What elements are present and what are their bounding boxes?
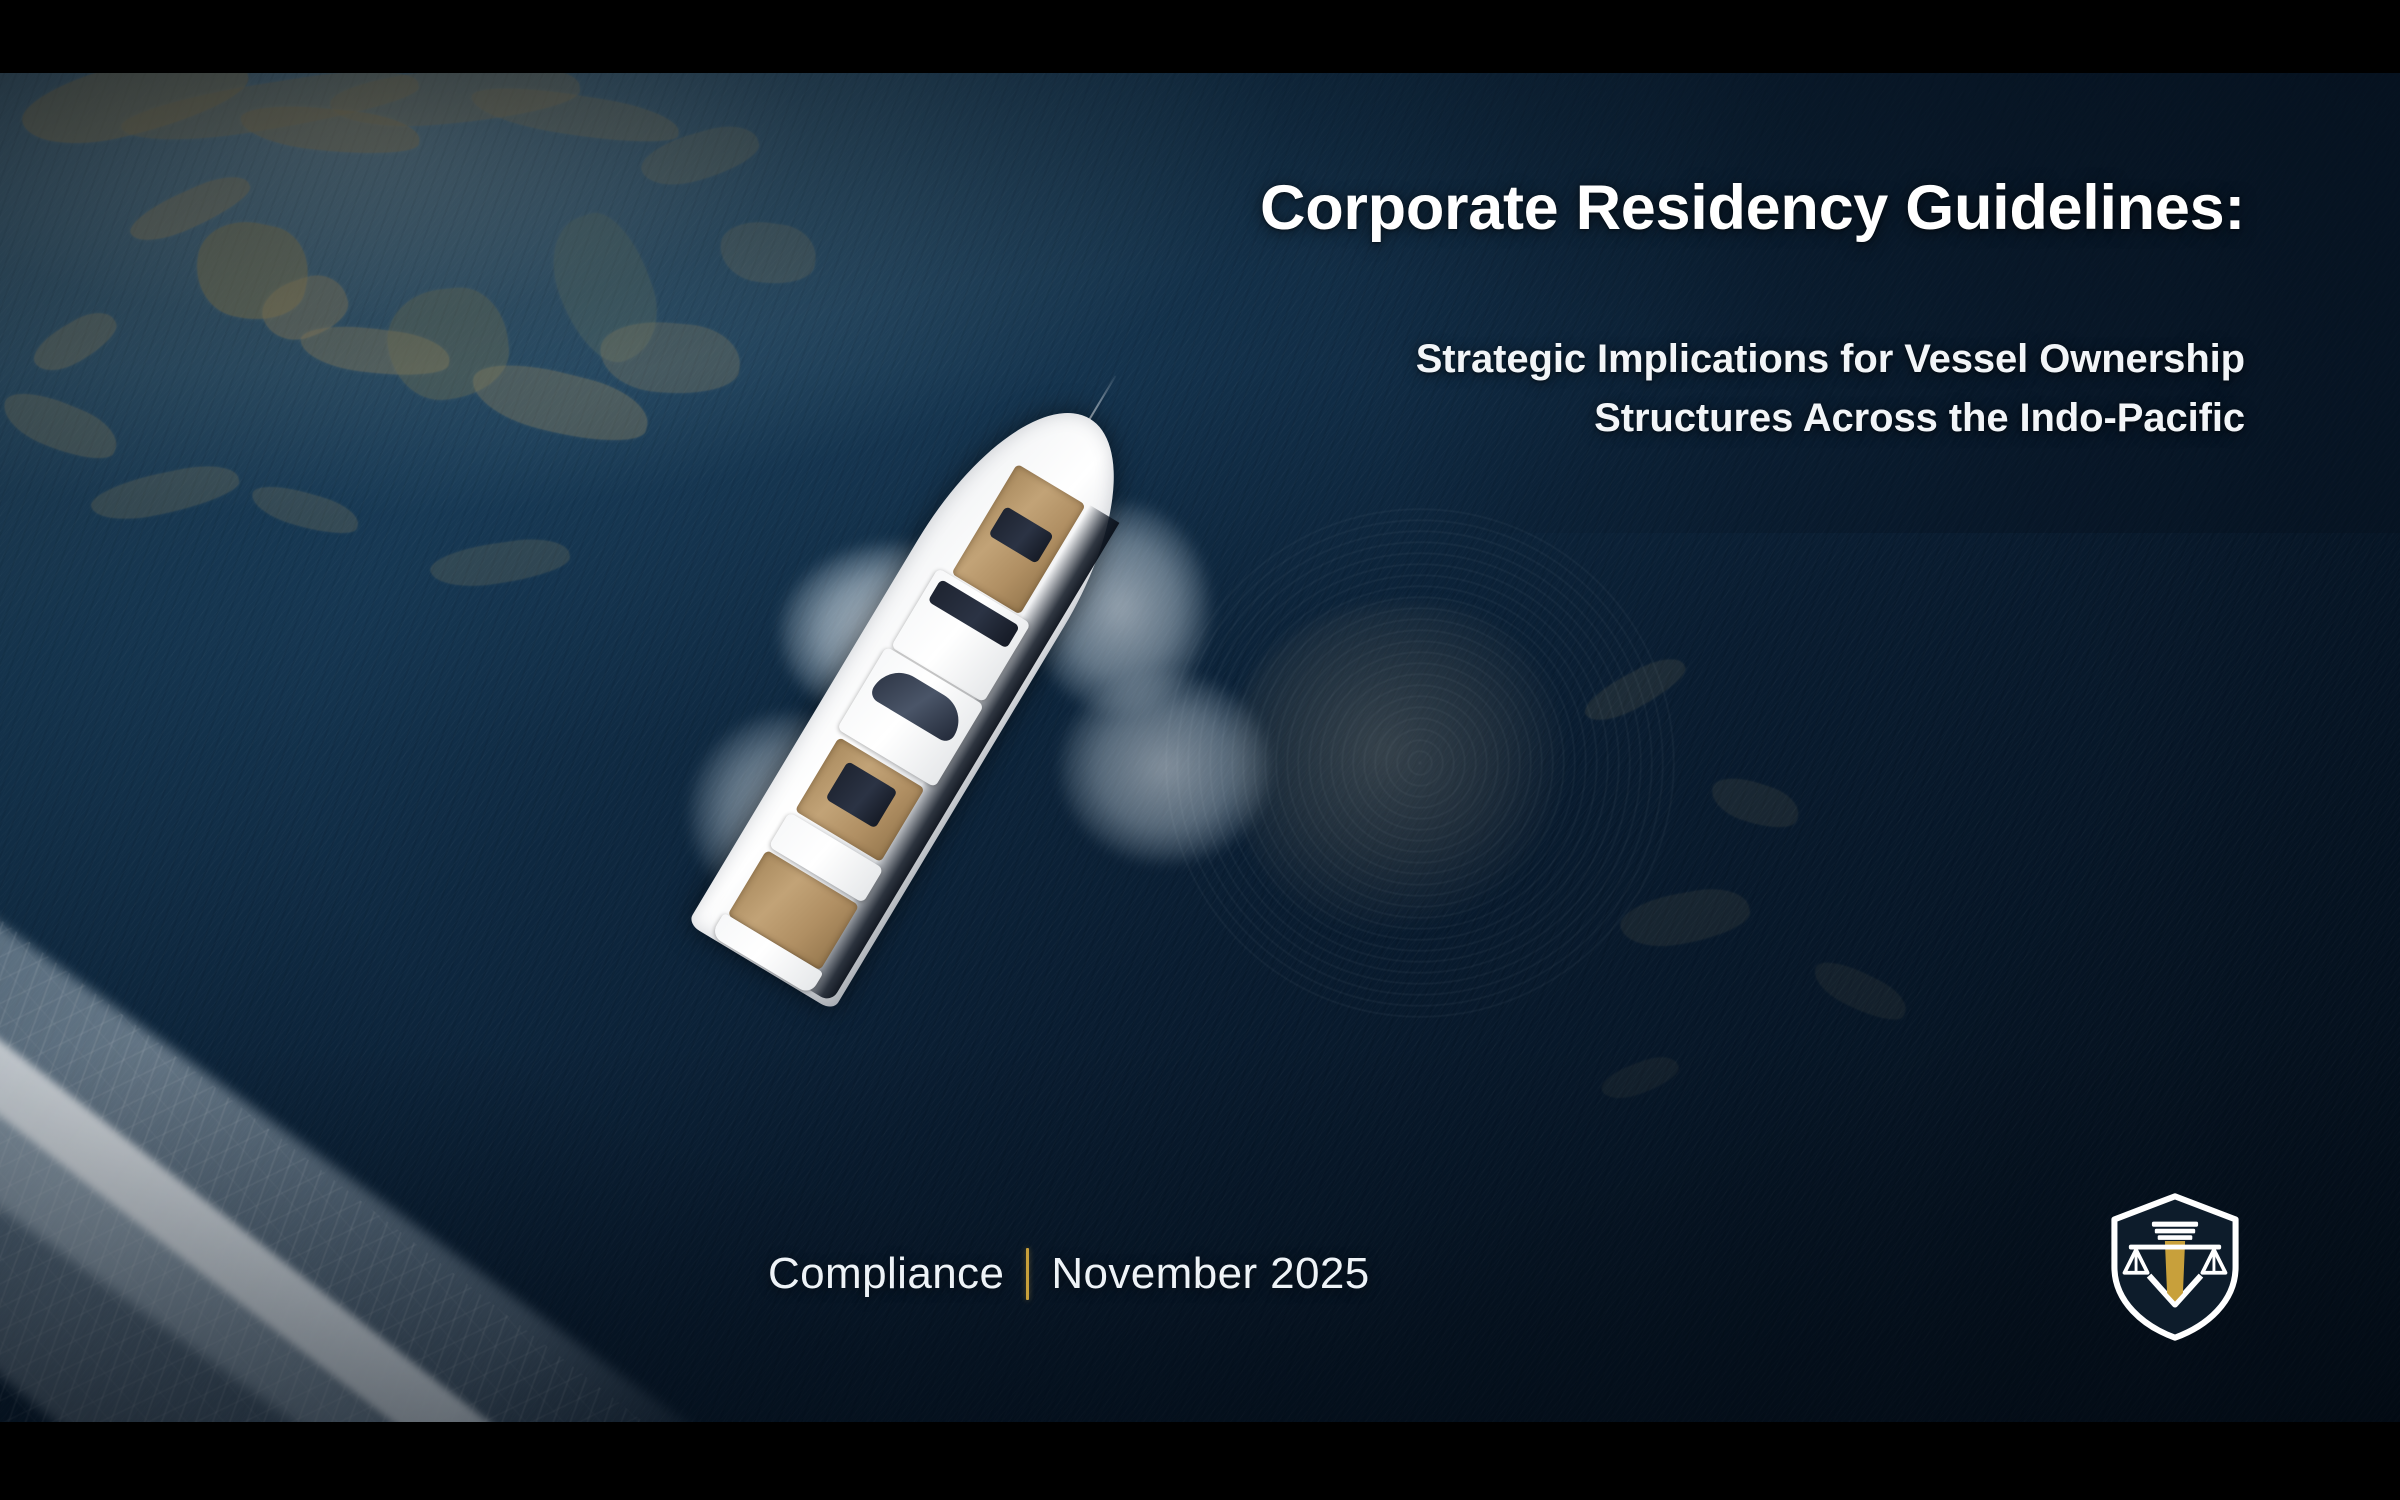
letterbox-bar-bottom — [0, 1422, 2400, 1500]
scales-beam — [2129, 1245, 2221, 1250]
column-capital-mid — [2155, 1229, 2195, 1234]
footer-department: Compliance — [768, 1249, 1004, 1299]
footer: Compliance November 2025 — [768, 1248, 1370, 1300]
page-title: Corporate Residency Guidelines: — [825, 175, 2245, 242]
subtitle-line-1: Strategic Implications for Vessel Owners… — [825, 330, 2245, 389]
title-slide: Corporate Residency Guidelines: Strategi… — [0, 0, 2400, 1500]
column-capital-low — [2158, 1235, 2193, 1240]
letterbox-bar-top — [0, 0, 2400, 73]
slide-text-layer: Corporate Residency Guidelines: Strategi… — [0, 0, 2400, 1500]
column-capital-top — [2152, 1222, 2198, 1227]
column-shaft — [2165, 1241, 2185, 1302]
footer-divider — [1026, 1248, 1029, 1300]
footer-date: November 2025 — [1051, 1249, 1369, 1299]
subtitle-block: Strategic Implications for Vessel Owners… — [825, 330, 2245, 448]
title-block: Corporate Residency Guidelines: — [825, 175, 2245, 242]
subtitle-line-2: Structures Across the Indo-Pacific — [825, 389, 2245, 448]
legal-compliance-shield-logo — [2102, 1192, 2248, 1342]
shield-icon — [2102, 1192, 2248, 1342]
